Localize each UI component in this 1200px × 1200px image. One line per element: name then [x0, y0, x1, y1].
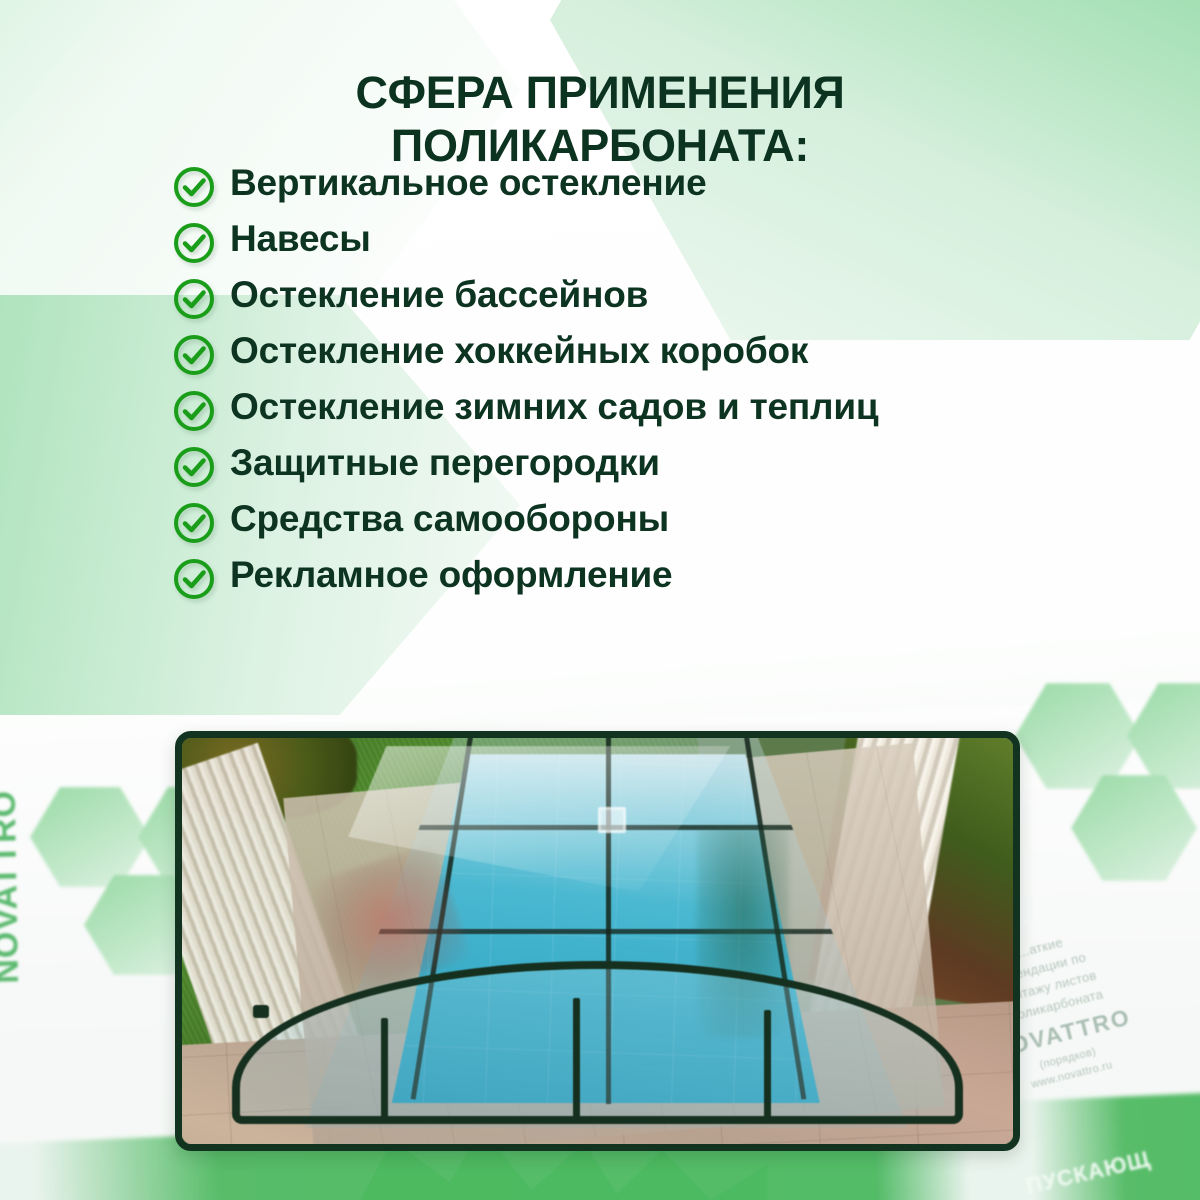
feature-label: Остекление хоккейных коробок: [230, 330, 808, 373]
photo-scene: [182, 738, 1013, 1144]
feature-label: Вертикальное остекление: [230, 162, 706, 205]
list-item: Навесы: [172, 218, 1052, 265]
feature-label: Защитные перегородки: [230, 442, 660, 485]
list-item: Вертикальное остекление: [172, 162, 1052, 209]
feature-label: Навесы: [230, 218, 371, 261]
check-circle-icon: [172, 221, 216, 265]
background-vertical-logo: NOVATTRO: [0, 790, 27, 984]
list-item: Остекление зимних садов и теплиц: [172, 386, 1052, 433]
check-circle-icon: [172, 389, 216, 433]
feature-label: Рекламное оформление: [230, 554, 672, 597]
feature-label: Остекление зимних садов и теплиц: [230, 386, 878, 429]
feature-label: Остекление бассейнов: [230, 274, 648, 317]
pool-enclosure-photo: [175, 731, 1020, 1151]
list-item: Защитные перегородки: [172, 442, 1052, 489]
page-title-line-1: СФЕРА ПРИМЕНЕНИЯ: [90, 66, 1110, 119]
list-item: Остекление бассейнов: [172, 274, 1052, 321]
page-title: СФЕРА ПРИМЕНЕНИЯ ПОЛИКАРБОНАТА:: [0, 66, 1200, 172]
check-circle-icon: [172, 557, 216, 601]
check-circle-icon: [172, 277, 216, 321]
photo-door-handle: [253, 1005, 269, 1018]
background-hex-cluster-right: [1015, 665, 1200, 875]
list-item: Рекламное оформление: [172, 554, 1052, 601]
check-circle-icon: [172, 333, 216, 377]
check-circle-icon: [172, 501, 216, 545]
poster-canvas: ...аткие ...ендации по ...нтажу листов .…: [0, 0, 1200, 1200]
list-item: Средства самообороны: [172, 498, 1052, 545]
list-item: Остекление хоккейных коробок: [172, 330, 1052, 377]
check-circle-icon: [172, 165, 216, 209]
feature-list: Вертикальное остекление Навесы Остеклени…: [172, 162, 1052, 610]
feature-label: Средства самообороны: [230, 498, 669, 541]
check-circle-icon: [172, 445, 216, 489]
